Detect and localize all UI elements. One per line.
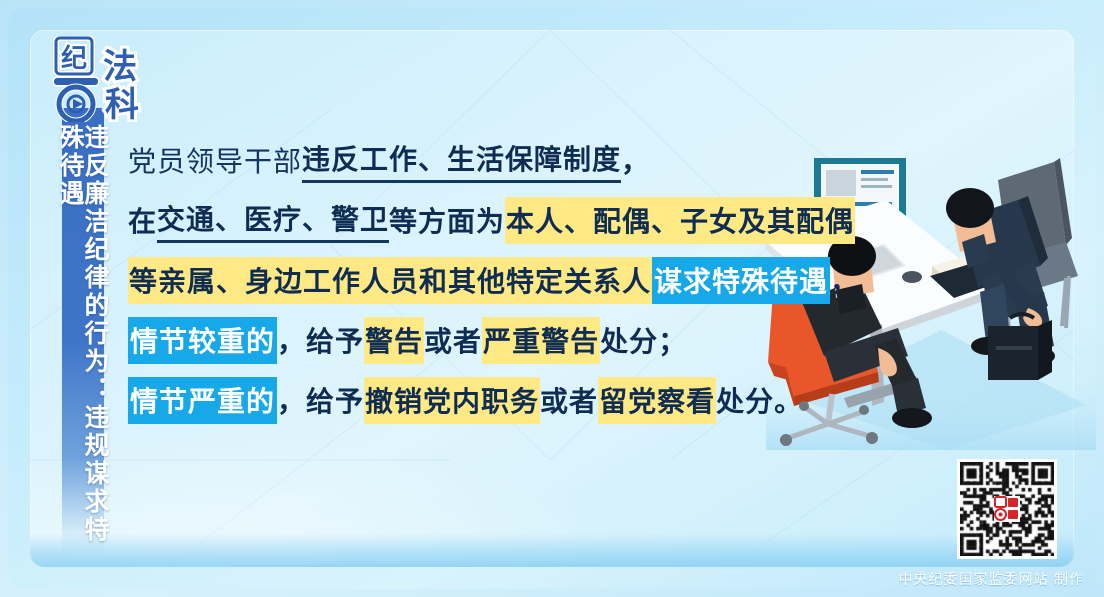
body-line-1: 党员领导干部违反工作、生活保障制度， bbox=[128, 130, 868, 190]
qr-code[interactable] bbox=[957, 459, 1057, 559]
text-segment: 情节较重的 bbox=[128, 317, 277, 364]
text-segment: 党员领导干部 bbox=[128, 140, 302, 180]
body-line-3: 等亲属、身边工作人员和其他特定关系人谋求特殊待遇， bbox=[128, 250, 868, 310]
text-segment: 警告 bbox=[364, 317, 424, 364]
text-segment: ，给予 bbox=[277, 320, 364, 360]
computer-mouse bbox=[902, 271, 922, 283]
text-segment: 等亲属、身边工作人员和其他特定关系人 bbox=[128, 257, 652, 304]
poster-root: 纪 法 科 违反廉洁纪律的行为：违规谋求特殊待遇 党员领导干部违反工作、生活保障… bbox=[0, 0, 1104, 597]
text-segment: 处分。 bbox=[716, 380, 803, 420]
text-segment: ， bbox=[621, 140, 650, 180]
credit-text: 中央纪委国家监委网站 制作 bbox=[899, 569, 1084, 589]
vertical-title-banner: 违反廉洁纪律的行为：违规谋求特殊待遇 bbox=[62, 108, 104, 556]
text-segment: 严重警告 bbox=[482, 317, 600, 364]
text-segment: 撤销党内职务 bbox=[364, 377, 540, 424]
text-segment: ， bbox=[830, 260, 859, 300]
svg-text:法: 法 bbox=[103, 47, 137, 87]
vertical-title-text: 违反廉洁纪律的行为：违规谋求特殊待遇 bbox=[58, 124, 108, 556]
text-segment: 或者 bbox=[540, 380, 598, 420]
text-segment: 处分； bbox=[600, 320, 687, 360]
body-line-5: 情节严重的，给予撤销党内职务或者留党察看处分。 bbox=[128, 370, 868, 430]
background-floor-band bbox=[30, 533, 1074, 567]
text-segment: 本人、配偶、子女及其配偶 bbox=[505, 197, 855, 244]
text-segment: 谋求特殊待遇 bbox=[652, 257, 830, 304]
svg-text:纪: 纪 bbox=[61, 43, 87, 74]
text-segment: 或者 bbox=[424, 320, 482, 360]
text-segment: 等方面为 bbox=[389, 200, 505, 240]
qr-center-logo bbox=[994, 496, 1020, 522]
text-segment: 留党察看 bbox=[598, 377, 716, 424]
main-text-block: 党员领导干部违反工作、生活保障制度，在交通、医疗、警卫等方面为本人、配偶、子女及… bbox=[128, 130, 868, 430]
text-segment: 交通、医疗、警卫 bbox=[157, 198, 389, 243]
text-segment: 情节严重的 bbox=[128, 377, 277, 424]
text-segment: ，给予 bbox=[277, 380, 364, 420]
text-segment: 在 bbox=[128, 200, 157, 240]
body-line-4: 情节较重的，给予警告或者严重警告处分； bbox=[128, 310, 868, 370]
jifa-ke-logo: 纪 法 科 bbox=[52, 36, 148, 122]
body-line-2: 在交通、医疗、警卫等方面为本人、配偶、子女及其配偶 bbox=[128, 190, 868, 250]
svg-text:科: 科 bbox=[105, 85, 139, 122]
text-segment: 违反工作、生活保障制度 bbox=[302, 138, 621, 183]
